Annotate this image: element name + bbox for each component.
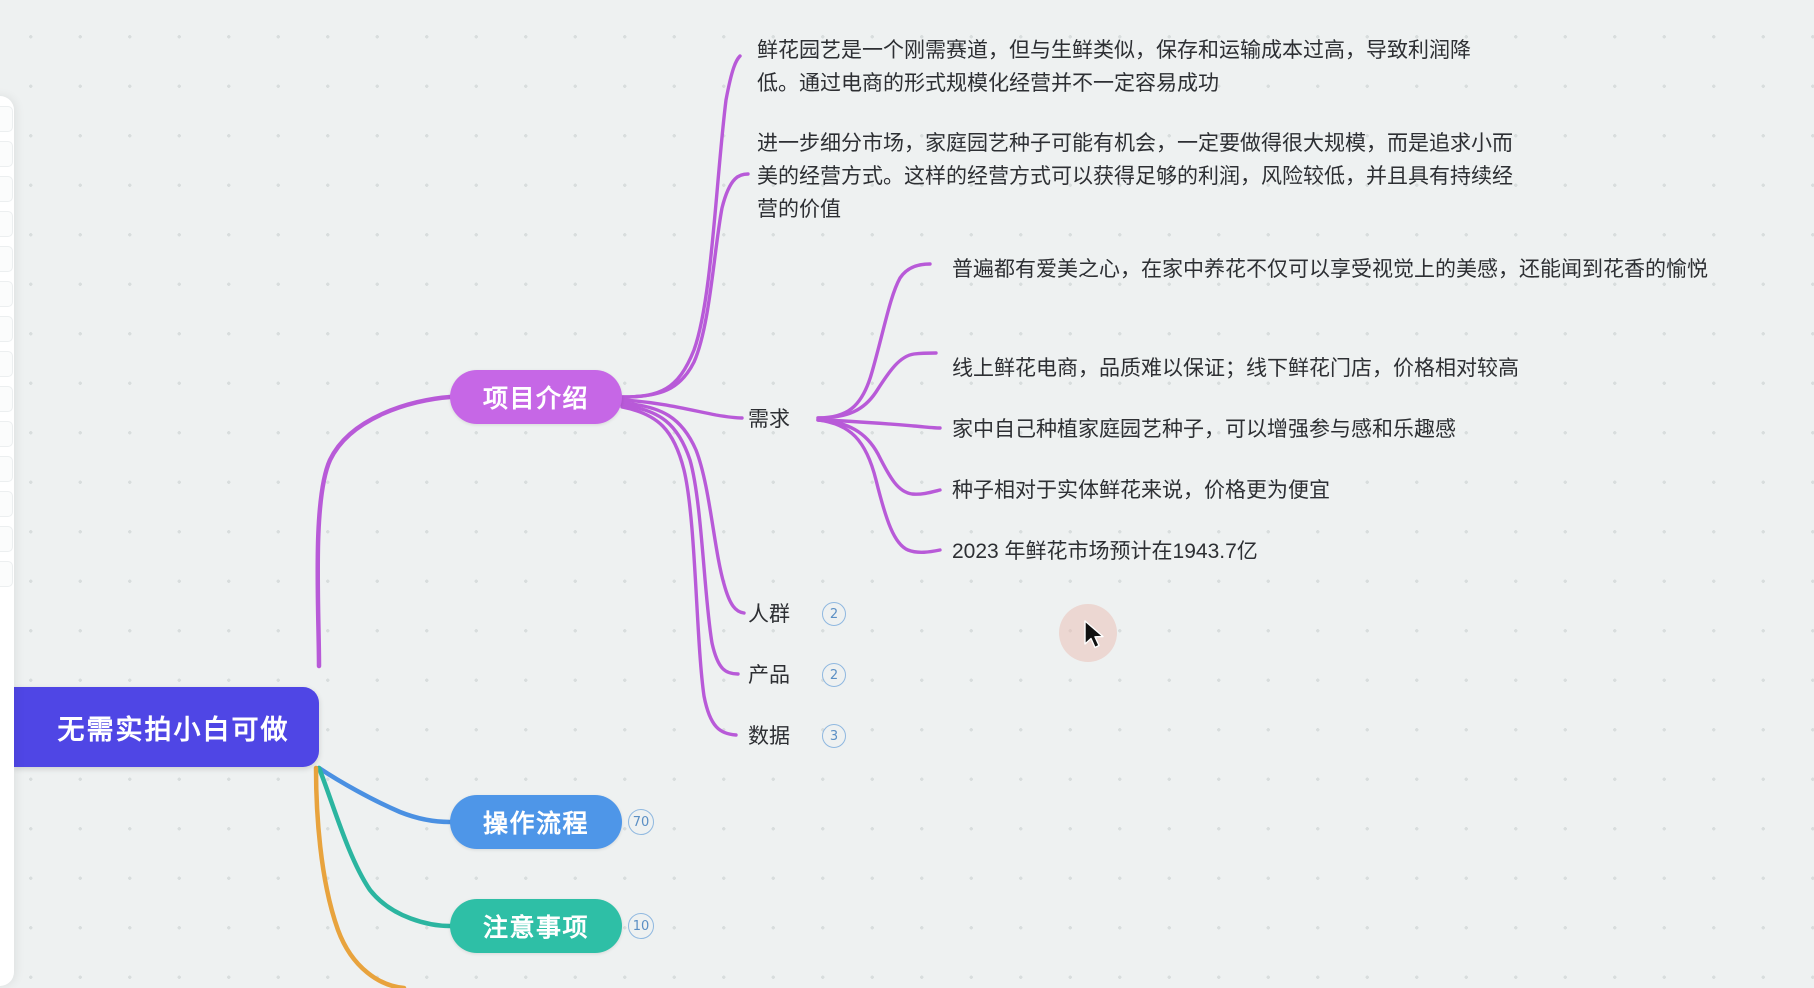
text-node-demand-5[interactable]: 2023 年鲜花市场预计在1943.7亿 xyxy=(952,537,1258,567)
link-intro-data xyxy=(622,407,736,735)
panel-chip[interactable] xyxy=(0,211,13,237)
panel-chip[interactable] xyxy=(0,456,13,482)
panel-chip[interactable] xyxy=(0,246,13,272)
root-node[interactable]: 无需实拍小白可做 xyxy=(14,687,319,767)
panel-chip[interactable] xyxy=(0,281,13,307)
link-intro-crowd xyxy=(622,403,744,613)
branch-node-flow-label: 操作流程 xyxy=(483,804,589,840)
text-node-demand-3[interactable]: 家中自己种植家庭园艺种子，可以增强参与感和乐趣感 xyxy=(952,415,1456,445)
text-node-para2[interactable]: 进一步细分市场，家庭园艺种子可能有机会，一定要做得很大规模，而是追求小而美的经营… xyxy=(757,127,1515,227)
panel-chip[interactable] xyxy=(0,386,13,412)
panel-chip[interactable] xyxy=(0,351,13,377)
text-node-product[interactable]: 产品 xyxy=(748,661,790,691)
panel-chip[interactable] xyxy=(0,316,13,342)
panel-chip[interactable] xyxy=(0,561,13,587)
link-intro-product xyxy=(622,405,738,674)
link-intro-para2 xyxy=(622,174,748,397)
text-node-crowd[interactable]: 人群 xyxy=(748,600,790,630)
link-demand-d2 xyxy=(818,353,936,418)
link-intro-para1 xyxy=(622,56,740,397)
link-demand-d4 xyxy=(818,420,940,494)
panel-chip[interactable] xyxy=(0,526,13,552)
panel-chip[interactable] xyxy=(0,106,13,132)
mindmap-canvas[interactable]: 无需实拍小白可做 项目介绍 操作流程 70 注意事项 10 鲜花园艺是一个刚需赛… xyxy=(0,0,1814,988)
branch-node-intro[interactable]: 项目介绍 xyxy=(450,370,622,424)
text-node-demand-2[interactable]: 线上鲜花电商，品质难以保证；线下鲜花门店，价格相对较高 xyxy=(952,354,1519,384)
branch-node-flow[interactable]: 操作流程 xyxy=(450,795,622,849)
panel-chip[interactable] xyxy=(0,141,13,167)
link-root-notes xyxy=(319,768,450,926)
text-node-data[interactable]: 数据 xyxy=(748,722,790,752)
branch-node-notes[interactable]: 注意事项 xyxy=(450,899,622,953)
branch-node-intro-label: 项目介绍 xyxy=(483,379,589,415)
link-root-intro xyxy=(318,397,450,666)
panel-chip[interactable] xyxy=(0,176,13,202)
text-node-demand[interactable]: 需求 xyxy=(748,405,790,435)
root-node-label: 无需实拍小白可做 xyxy=(44,708,290,747)
link-root-flow xyxy=(319,768,450,822)
text-node-para1[interactable]: 鲜花园艺是一个刚需赛道，但与生鲜类似，保存和运输成本过高，导致利润降低。通过电商… xyxy=(757,34,1497,100)
panel-chip[interactable] xyxy=(0,491,13,517)
link-demand-d5 xyxy=(818,420,940,552)
branch-node-notes-label: 注意事项 xyxy=(483,908,589,944)
text-node-demand-4[interactable]: 种子相对于实体鲜花来说，价格更为便宜 xyxy=(952,476,1330,506)
left-collapsed-panel[interactable] xyxy=(0,96,14,986)
text-node-demand-1[interactable]: 普遍都有爱美之心，在家中养花不仅可以享受视觉上的美感，还能闻到花香的愉悦 xyxy=(952,253,1722,286)
panel-chip[interactable] xyxy=(0,421,13,447)
